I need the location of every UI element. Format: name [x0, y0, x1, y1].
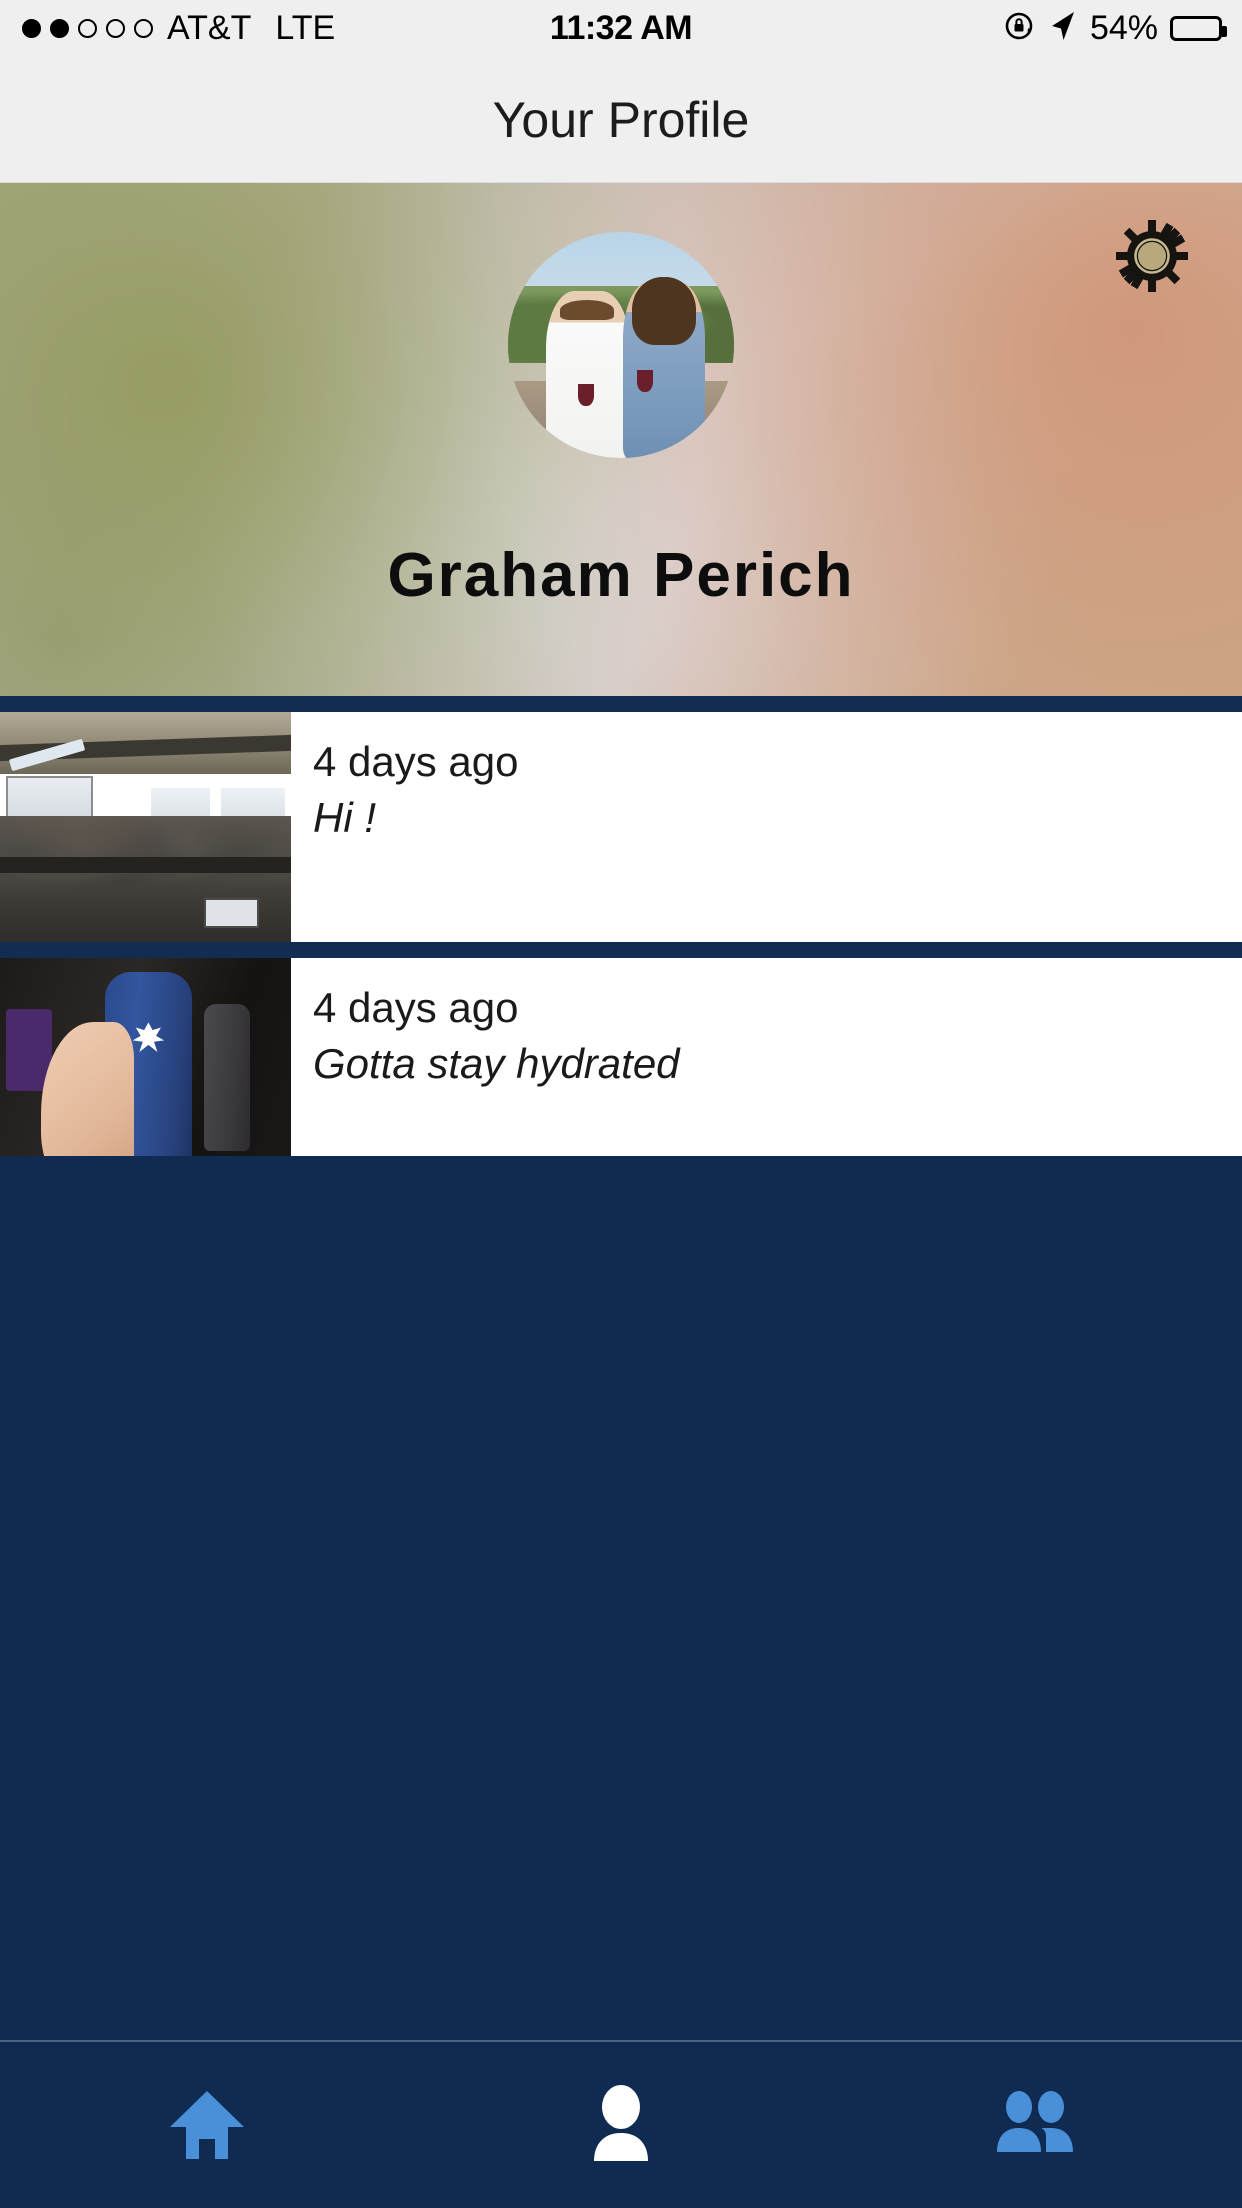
home-icon: [168, 2087, 246, 2163]
tab-home[interactable]: [0, 2087, 414, 2163]
post-thumbnail[interactable]: [0, 712, 291, 942]
tab-friends[interactable]: [828, 2090, 1242, 2160]
rotation-lock-icon: [1002, 9, 1036, 48]
battery-percentage-label: 54%: [1090, 9, 1158, 48]
tab-bar: [0, 2040, 1242, 2208]
empty-content-area: [0, 1156, 1242, 2040]
post-body: 4 days ago Gotta stay hydrated: [291, 958, 1242, 1188]
avatar-photo: [508, 232, 734, 458]
post-timestamp: 4 days ago: [313, 984, 1242, 1031]
post-list: 4 days ago Hi ! 4 days ago Gotta stay hy…: [0, 696, 1242, 1188]
page-title: Your Profile: [493, 91, 750, 149]
post-divider: [0, 942, 1242, 958]
status-bar: AT&T LTE 11:32 AM 54%: [0, 0, 1242, 57]
post-thumbnail[interactable]: [0, 958, 291, 1188]
tab-profile[interactable]: [414, 2085, 828, 2165]
post-text: Gotta stay hydrated: [313, 1039, 1242, 1089]
list-item[interactable]: 4 days ago Hi !: [0, 712, 1242, 942]
profile-screen: AT&T LTE 11:32 AM 54%: [0, 0, 1242, 2208]
navigation-bar: Your Profile: [0, 57, 1242, 183]
battery-icon: [1170, 16, 1222, 41]
settings-gear-button[interactable]: [1114, 218, 1190, 294]
location-arrow-icon: [1048, 9, 1078, 48]
post-divider: [0, 696, 1242, 712]
post-body: 4 days ago Hi !: [291, 712, 1242, 942]
post-text: Hi !: [313, 793, 1242, 843]
person-icon: [586, 2085, 656, 2165]
avatar[interactable]: [508, 232, 734, 458]
profile-name: Graham Perich: [0, 540, 1242, 611]
status-bar-right: 54%: [1002, 9, 1222, 48]
gear-icon: [1114, 218, 1190, 294]
list-item[interactable]: 4 days ago Gotta stay hydrated: [0, 958, 1242, 1188]
post-timestamp: 4 days ago: [313, 738, 1242, 785]
people-icon: [989, 2090, 1081, 2160]
